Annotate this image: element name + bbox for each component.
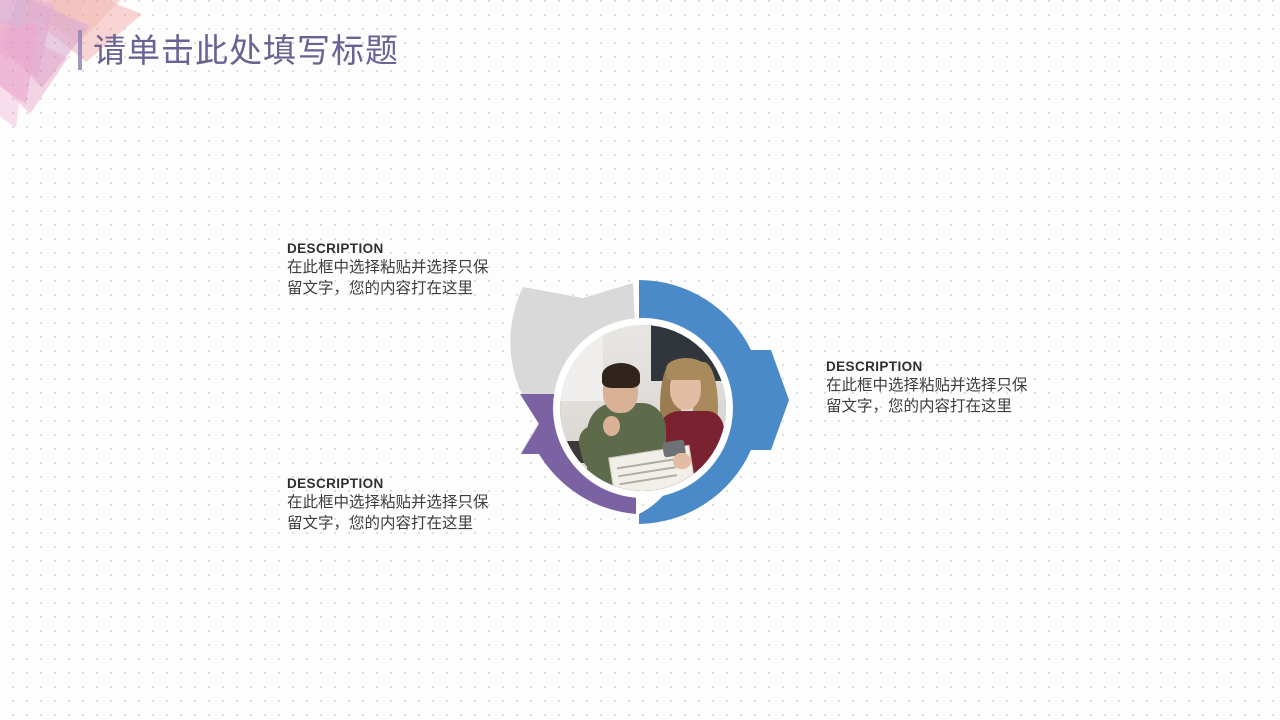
photo-wall-light: [560, 325, 603, 401]
leaf-petal: [0, 0, 60, 40]
description-heading: DESCRIPTION: [287, 241, 549, 256]
leaf-petal: [0, 0, 54, 78]
description-line-1: 在此框中选择粘贴并选择只保: [287, 493, 549, 514]
leaf-petal: [0, 14, 38, 104]
photo-man-hair: [602, 363, 640, 388]
slide-title-block: 请单击此处填写标题: [78, 26, 399, 74]
leaf-petal: [0, 0, 26, 28]
page-title: 请单击此处填写标题: [93, 34, 399, 67]
description-line-2: 留文字，您的内容打在这里: [287, 514, 549, 535]
photo-woman-hand: [673, 453, 691, 470]
description-line-2: 留文字，您的内容打在这里: [287, 279, 549, 300]
center-photo: [560, 325, 726, 491]
leaf-petal: [0, 50, 24, 128]
description-block-bottom-left: DESCRIPTION 在此框中选择粘贴并选择只保 留文字，您的内容打在这里: [287, 476, 549, 534]
description-line-2: 留文字，您的内容打在这里: [826, 397, 1088, 418]
description-block-top-left: DESCRIPTION 在此框中选择粘贴并选择只保 留文字，您的内容打在这里: [287, 241, 549, 299]
arrow-ring-diagram: [505, 272, 805, 534]
description-heading: DESCRIPTION: [287, 476, 549, 491]
photo-man-hand: [603, 416, 620, 436]
description-block-right: DESCRIPTION 在此框中选择粘贴并选择只保 留文字，您的内容打在这里: [826, 359, 1088, 417]
slide-canvas: 请单击此处填写标题: [0, 0, 1280, 720]
photo-woman-hair-top: [666, 358, 706, 380]
description-line-1: 在此框中选择粘贴并选择只保: [826, 376, 1088, 397]
title-accent-bar: [78, 30, 82, 70]
description-heading: DESCRIPTION: [826, 359, 1088, 374]
description-line-1: 在此框中选择粘贴并选择只保: [287, 258, 549, 279]
leaf-petal: [0, 26, 68, 114]
